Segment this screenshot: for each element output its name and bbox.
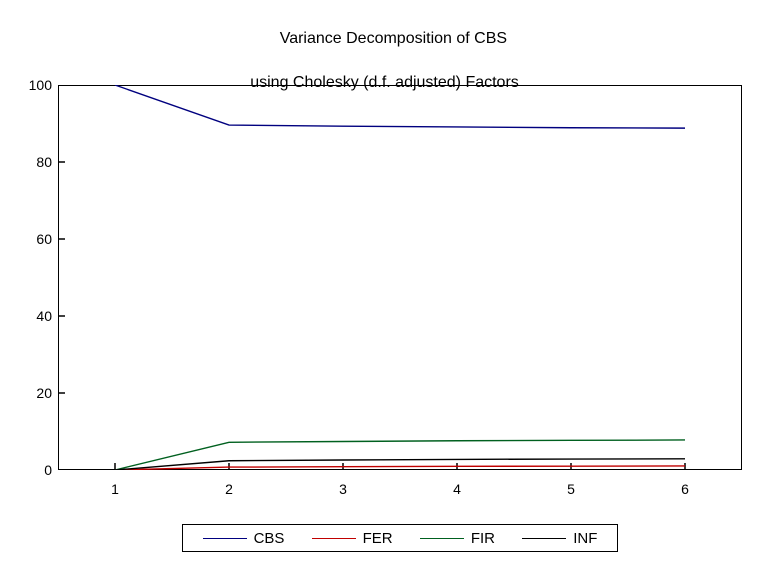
legend-item-fir: FIR xyxy=(420,531,495,546)
legend-label: FIR xyxy=(471,531,495,546)
x-axis-tick-label: 3 xyxy=(323,482,363,496)
legend-label: FER xyxy=(363,531,393,546)
legend-item-inf: INF xyxy=(522,531,597,546)
legend-swatch-inf xyxy=(522,538,566,539)
legend-label: INF xyxy=(573,531,597,546)
variance-decomposition-chart: Variance Decomposition of CBS using Chol… xyxy=(0,0,769,572)
x-axis-tick-label: 4 xyxy=(437,482,477,496)
series-line-cbs xyxy=(115,85,685,128)
x-axis-tick-label: 2 xyxy=(209,482,249,496)
chart-legend: CBSFERFIRINF xyxy=(182,524,618,552)
legend-swatch-fer xyxy=(312,538,356,539)
legend-item-cbs: CBS xyxy=(203,531,285,546)
legend-swatch-fir xyxy=(420,538,464,539)
series-line-fer xyxy=(115,466,685,470)
x-axis-tick-label: 1 xyxy=(95,482,135,496)
plot-series-area xyxy=(58,85,742,470)
legend-swatch-cbs xyxy=(203,538,247,539)
x-axis-tick-label: 6 xyxy=(665,482,705,496)
x-axis-tick-label: 5 xyxy=(551,482,591,496)
legend-label: CBS xyxy=(254,531,285,546)
legend-item-fer: FER xyxy=(312,531,393,546)
